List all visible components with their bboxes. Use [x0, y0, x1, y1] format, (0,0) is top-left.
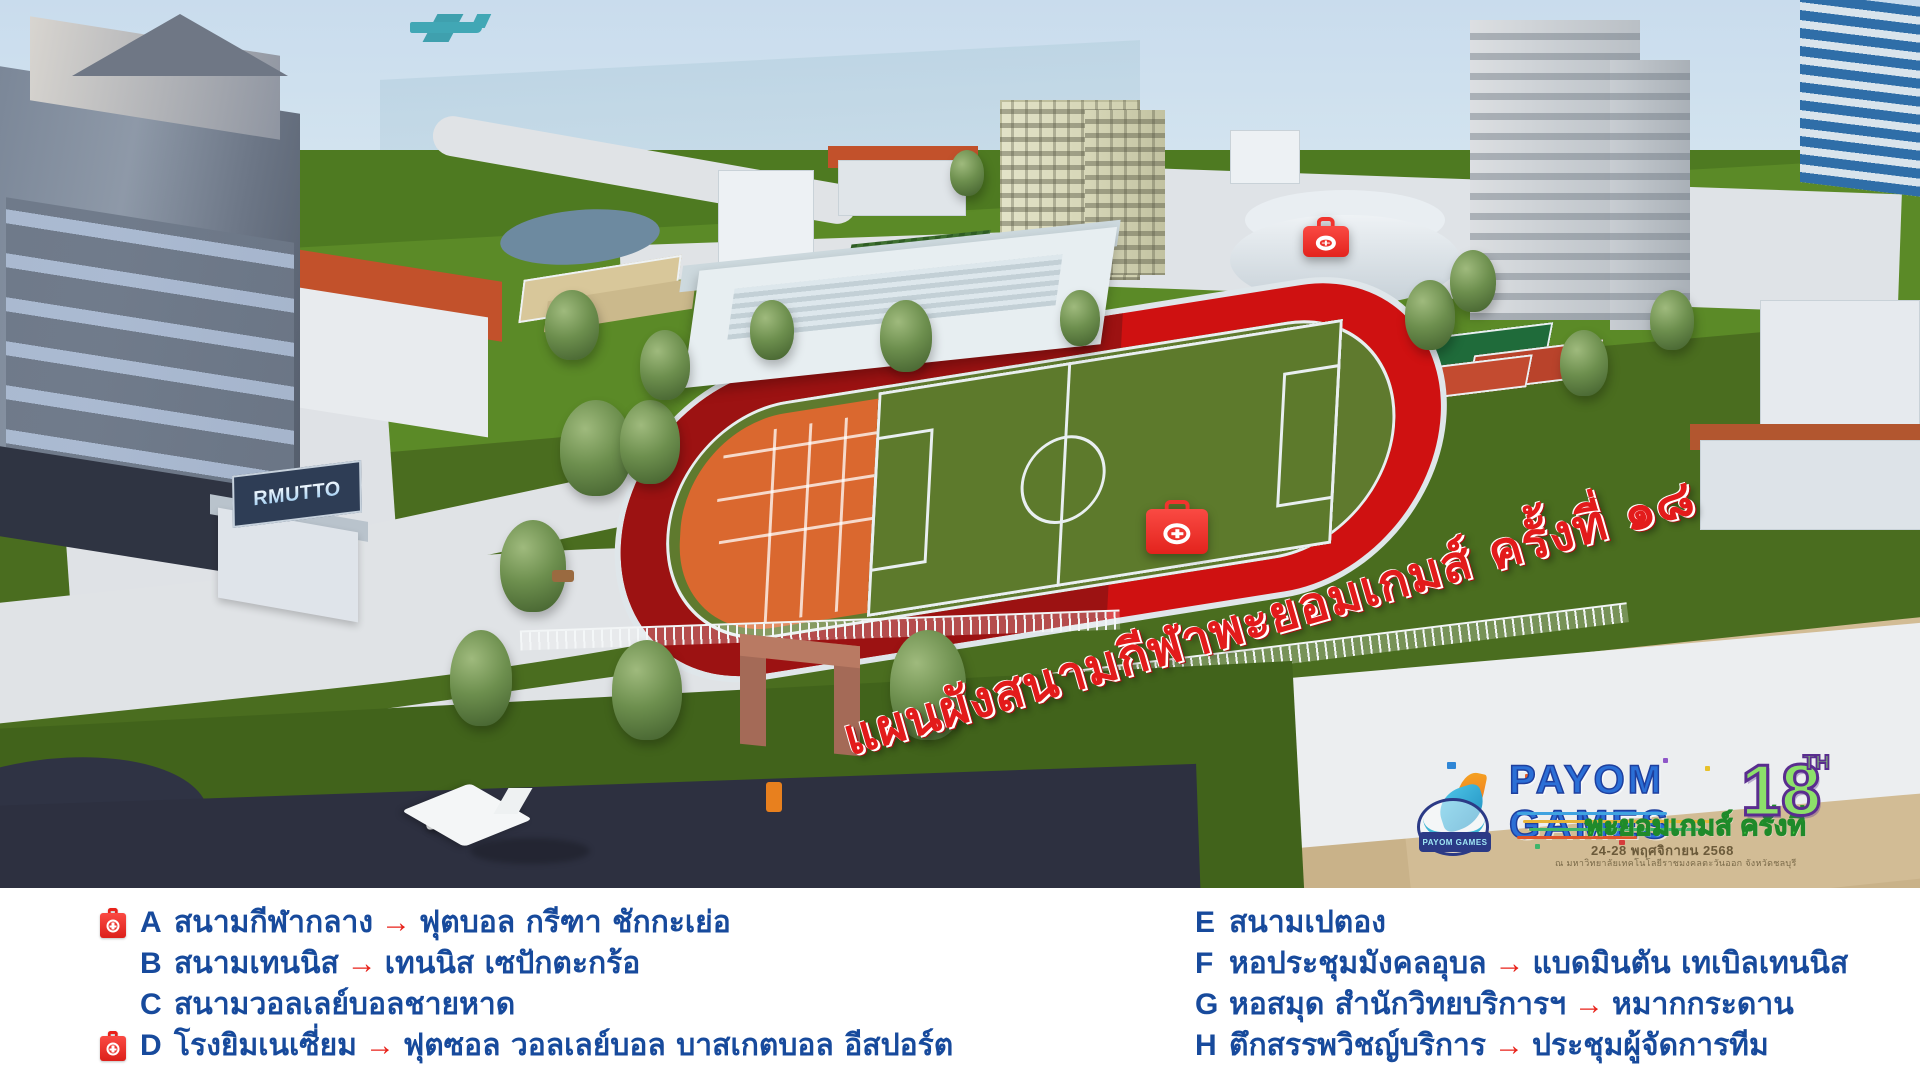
park-bench	[552, 570, 574, 582]
legend-letter: D	[140, 1029, 174, 1063]
medical-cross-icon	[107, 920, 120, 933]
legend-panel: Aสนามกีฬากลาง→ฟุตบอล กรีฑา ชักกะเย่อBสนา…	[0, 888, 1920, 1080]
legend-icon-slot	[1155, 906, 1195, 940]
first-aid-box-icon	[100, 1036, 126, 1061]
legend-icon-slot	[100, 1029, 140, 1063]
legend-arrow-icon: →	[381, 908, 411, 938]
legend-sports: เทนนิส เซปักตะกร้อ	[385, 940, 641, 987]
trash-bin	[766, 782, 782, 812]
emblem-ribbon: PAYOM GAMES	[1419, 832, 1491, 852]
payom-games-logo: PAYOM GAMES PAYOM GAMES พะยอมเกมส์ ครั้ง…	[1405, 752, 1825, 878]
legend-letter: E	[1195, 906, 1229, 940]
confetti-dot	[1447, 762, 1456, 769]
airplane-monument	[405, 770, 545, 860]
building-small-4	[1760, 300, 1920, 430]
legend-location-name: สนามวอลเลย์บอลชายหาด	[174, 981, 515, 1028]
first-aid-icon	[100, 908, 126, 938]
tree	[620, 400, 680, 484]
legend-column-left: Aสนามกีฬากลาง→ฟุตบอล กรีฑา ชักกะเย่อBสนา…	[100, 902, 953, 1066]
building-grey-tower-2	[1610, 60, 1690, 330]
legend-column-right: EสนามเปตองFหอประชุมมังคลอุบล→แบดมินตัน เ…	[1155, 902, 1848, 1066]
building-small-5	[1700, 440, 1920, 530]
legend-location-name: สนามเปตอง	[1229, 899, 1386, 946]
medical-cross-icon	[107, 1043, 120, 1056]
legend-letter: F	[1195, 947, 1229, 981]
tree	[950, 150, 984, 196]
legend-arrow-icon: →	[1494, 1031, 1524, 1061]
legend-icon-slot	[1155, 1029, 1195, 1063]
legend-location-name: ตึกสรรพวิชญ์บริการ	[1229, 1022, 1486, 1069]
window-grid	[1610, 60, 1690, 330]
first-aid-box-icon	[100, 913, 126, 938]
first-aid-box-icon	[1146, 509, 1208, 554]
building-small-3	[1230, 130, 1300, 184]
medical-cross-icon	[1316, 236, 1336, 251]
campus-map-render: RMUTTO	[0, 0, 1920, 888]
legend-letter: B	[140, 947, 174, 981]
rmutto-roof-cap	[72, 14, 288, 76]
legend-location-name: หอสมุด สำนักวิทยบริการฯ	[1229, 981, 1566, 1028]
first-aid-marker-north[interactable]	[1303, 217, 1349, 257]
tree	[500, 520, 566, 612]
airplane-tail	[471, 14, 492, 28]
tree	[1560, 330, 1608, 396]
legend-row-e[interactable]: Eสนามเปตอง	[1155, 902, 1848, 943]
legend-location-name: โรงยิมเนเซี่ยม	[174, 1022, 357, 1069]
first-aid-marker-field[interactable]	[1146, 500, 1208, 554]
legend-location-name: สนามเทนนิส	[174, 940, 339, 987]
payom-event-place: ณ มหาวิทยาลัยเทคโนโลยีราชมงคลตะวันออก จั…	[1555, 856, 1797, 870]
tree	[1650, 290, 1694, 350]
legend-icon-slot	[100, 988, 140, 1022]
first-aid-box-icon	[1303, 226, 1349, 257]
tree	[1060, 290, 1100, 346]
legend-location-name: หอประชุมมังคลอุบล	[1229, 940, 1487, 987]
rmutto-sign-text: RMUTTO	[253, 477, 341, 511]
legend-arrow-icon: →	[1495, 949, 1525, 979]
tree	[450, 630, 512, 726]
legend-location-name: สนามกีฬากลาง	[174, 899, 373, 946]
legend-letter: C	[140, 988, 174, 1022]
tree	[1405, 280, 1455, 350]
payom-edition-ordinal: TH	[1803, 752, 1830, 775]
building-small-1	[718, 170, 814, 266]
legend-sports: แบดมินตัน เทเบิลเทนนิส	[1533, 940, 1849, 987]
legend-icon-slot	[100, 947, 140, 981]
legend-arrow-icon: →	[1574, 990, 1604, 1020]
page-root: RMUTTO	[0, 0, 1920, 1080]
legend-letter: G	[1195, 988, 1229, 1022]
first-aid-icon	[100, 1031, 126, 1061]
legend-row-h[interactable]: Hตึกสรรพวิชญ์บริการ→ประชุมผู้จัดการทีม	[1155, 1025, 1848, 1066]
pitch-goal-box-left	[869, 428, 933, 572]
legend-row-a[interactable]: Aสนามกีฬากลาง→ฟุตบอล กรีฑา ชักกะเย่อ	[100, 902, 953, 943]
legend-row-g[interactable]: Gหอสมุด สำนักวิทยบริการฯ→หมากกระดาน	[1155, 984, 1848, 1025]
legend-icon-slot	[1155, 988, 1195, 1022]
legend-icon-slot	[100, 906, 140, 940]
medical-cross-icon	[1163, 523, 1190, 545]
legend-sports: ฟุตบอล กรีฑา ชักกะเย่อ	[419, 899, 731, 946]
legend-sports: ประชุมผู้จัดการทีม	[1532, 1022, 1769, 1069]
legend-sports: ฟุตซอล วอลเลย์บอล บาสเกตบอล อีสปอร์ต	[403, 1022, 953, 1069]
legend-row-f[interactable]: Fหอประชุมมังคลอุบล→แบดมินตัน เทเบิลเทนนิ…	[1155, 943, 1848, 984]
tree	[880, 300, 932, 372]
pitch-goal-box-right	[1276, 364, 1340, 508]
emblem-ribbon-text: PAYOM GAMES	[1422, 838, 1487, 847]
legend-row-c[interactable]: Cสนามวอลเลย์บอลชายหาด	[100, 984, 953, 1025]
payom-emblem-icon: PAYOM GAMES	[1413, 770, 1505, 862]
legend-sports: หมากกระดาน	[1612, 981, 1794, 1028]
tree	[750, 300, 794, 360]
tree	[1450, 250, 1496, 312]
building-small-2	[838, 160, 966, 216]
legend-arrow-icon: →	[347, 949, 377, 979]
legend-row-d[interactable]: Dโรงยิมเนเซี่ยม→ฟุตซอล วอลเลย์บอล บาสเกต…	[100, 1025, 953, 1066]
legend-icon-slot	[1155, 947, 1195, 981]
tree	[612, 640, 682, 740]
legend-arrow-icon: →	[365, 1031, 395, 1061]
tree	[545, 290, 599, 360]
legend-row-b[interactable]: Bสนามเทนนิส→เทนนิส เซปักตะกร้อ	[100, 943, 953, 984]
campus-gate	[740, 634, 860, 757]
tree	[640, 330, 690, 400]
legend-letter: A	[140, 906, 174, 940]
legend-letter: H	[1195, 1029, 1229, 1063]
building-blue-striped	[1800, 0, 1920, 198]
airplane-in-sky	[400, 12, 490, 42]
